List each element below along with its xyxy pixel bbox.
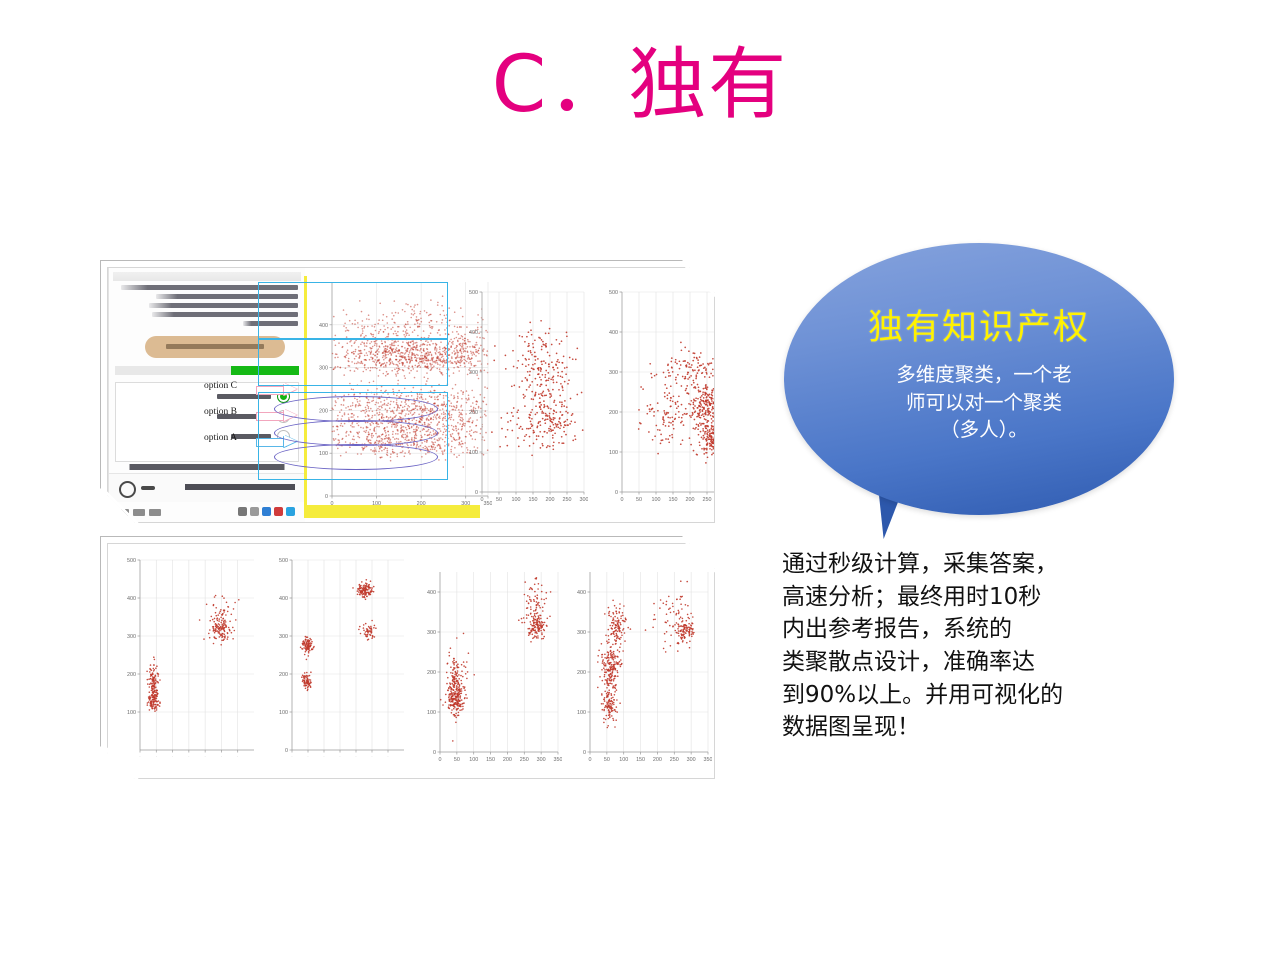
svg-text:200: 200 xyxy=(417,501,426,507)
svg-text:200: 200 xyxy=(503,757,512,763)
bubble-body: 多维度聚类，一个老 师可以对一个聚类 （多人）。 xyxy=(836,361,1132,444)
cluster-ellipse-option-c xyxy=(274,396,438,422)
svg-text:200: 200 xyxy=(427,670,436,676)
svg-text:300: 300 xyxy=(609,370,618,376)
panel-bottom-inner: ·······100200300400500 ·······0100200300… xyxy=(107,543,715,779)
svg-text:400: 400 xyxy=(427,590,436,596)
svg-text:500: 500 xyxy=(127,558,136,564)
panel-top-inner: option C option B option A xyxy=(107,267,715,523)
svg-text:50: 50 xyxy=(496,497,502,503)
slide-root: C．独有 xyxy=(0,0,1280,960)
gear-icon[interactable] xyxy=(119,481,136,498)
svg-text:100: 100 xyxy=(512,497,521,503)
svg-text:500: 500 xyxy=(279,558,288,564)
svg-text:350: 350 xyxy=(554,757,563,763)
svg-text:100: 100 xyxy=(427,710,436,716)
svg-text:100: 100 xyxy=(372,501,381,507)
svg-text:·: · xyxy=(204,754,206,760)
mockup-titlebar xyxy=(113,272,301,281)
paragraph-line: 通过秒级计算，采集答案， xyxy=(782,548,1182,581)
svg-text:·: · xyxy=(139,754,141,760)
svg-text:200: 200 xyxy=(546,497,555,503)
paragraph-line: 到90%以上。并用可视化的 xyxy=(782,679,1182,712)
svg-text:400: 400 xyxy=(279,596,288,602)
svg-text:300: 300 xyxy=(427,630,436,636)
svg-text:100: 100 xyxy=(279,710,288,716)
highlight-box-2 xyxy=(258,338,448,386)
svg-text:200: 200 xyxy=(279,672,288,678)
svg-text:·: · xyxy=(339,754,341,760)
svg-text:400: 400 xyxy=(609,330,618,336)
svg-text:·: · xyxy=(155,754,157,760)
paragraph-line: 内出参考报告，系统的 xyxy=(782,613,1182,646)
svg-text:100: 100 xyxy=(652,497,661,503)
svg-text:0: 0 xyxy=(433,750,436,756)
svg-text:100: 100 xyxy=(609,450,618,456)
svg-text:150: 150 xyxy=(486,757,495,763)
svg-text:200: 200 xyxy=(609,410,618,416)
svg-text:·: · xyxy=(237,754,239,760)
bubble-heading: 独有知识产权 xyxy=(784,299,1174,350)
speech-bubble: 独有知识产权 多维度聚类，一个老 师可以对一个聚类 （多人）。 xyxy=(784,243,1174,515)
svg-text:·: · xyxy=(188,754,190,760)
svg-text:300: 300 xyxy=(469,370,478,376)
svg-text:300: 300 xyxy=(537,757,546,763)
svg-text:150: 150 xyxy=(669,497,678,503)
svg-text:0: 0 xyxy=(325,494,328,500)
scatter-plot-top-right: 0501001502002503000100200300400500 xyxy=(600,286,715,508)
highlight-box-1 xyxy=(258,282,448,340)
screenshot-panel-top: option C option B option A xyxy=(100,260,722,530)
svg-text:50: 50 xyxy=(454,757,460,763)
svg-text:100: 100 xyxy=(469,450,478,456)
svg-text:0: 0 xyxy=(481,497,484,503)
svg-text:400: 400 xyxy=(127,596,136,602)
svg-text:100: 100 xyxy=(127,710,136,716)
svg-text:0: 0 xyxy=(439,757,442,763)
screenshot-panel-bottom: ·······100200300400500 ·······0100200300… xyxy=(100,536,722,786)
bubble-body-line: 多维度聚类，一个老 xyxy=(836,361,1132,389)
scatter-plot-bottom-3: 0501001502002503003500100200300400 xyxy=(416,566,562,766)
svg-text:·: · xyxy=(387,754,389,760)
more-icon[interactable] xyxy=(141,486,155,490)
svg-text:200: 200 xyxy=(686,497,695,503)
svg-text:0: 0 xyxy=(475,490,478,496)
svg-text:500: 500 xyxy=(469,290,478,296)
svg-text:·: · xyxy=(355,754,357,760)
svg-text:0: 0 xyxy=(615,490,618,496)
svg-text:500: 500 xyxy=(609,290,618,296)
svg-text:·: · xyxy=(291,754,293,760)
scatter-plot-bottom-2: ·······0100200300400500 xyxy=(268,554,408,768)
svg-text:150: 150 xyxy=(529,497,538,503)
svg-text:200: 200 xyxy=(469,410,478,416)
scatter-plot-top-middle: 0501001502002503000100200300400500 xyxy=(460,286,588,508)
svg-text:300: 300 xyxy=(580,497,589,503)
callout-label: option B xyxy=(204,407,237,417)
cluster-ellipse-option-b xyxy=(274,420,438,446)
svg-text:·: · xyxy=(323,754,325,760)
svg-text:250: 250 xyxy=(703,497,712,503)
svg-text:·: · xyxy=(371,754,373,760)
bubble-body-line: （多人）。 xyxy=(836,416,1132,444)
svg-text:300: 300 xyxy=(127,634,136,640)
callout-label: option A xyxy=(204,433,237,443)
svg-text:·: · xyxy=(221,754,223,760)
cluster-ellipse-option-a xyxy=(274,444,438,470)
mockup-toolbar-label xyxy=(185,484,295,490)
svg-text:100: 100 xyxy=(469,757,478,763)
svg-text:250: 250 xyxy=(563,497,572,503)
scatter-plot-bottom-1: ·······100200300400500 xyxy=(116,554,258,768)
svg-text:400: 400 xyxy=(469,330,478,336)
paragraph-line: 高速分析；最终用时10秒 xyxy=(782,581,1182,614)
description-paragraph: 通过秒级计算，采集答案， 高速分析；最终用时10秒 内出参考报告，系统的 类聚散… xyxy=(782,548,1182,744)
mockup-status-icons xyxy=(117,509,161,516)
mockup-tray-icons xyxy=(238,507,295,516)
callout-label: option C xyxy=(204,381,237,391)
bubble-body-line: 师可以对一个聚类 xyxy=(836,389,1132,417)
svg-text:250: 250 xyxy=(520,757,529,763)
svg-text:0: 0 xyxy=(331,501,334,507)
scatter-plot-bottom-4: 0501001502002503003500100200300400 xyxy=(566,566,712,766)
svg-text:200: 200 xyxy=(127,672,136,678)
paragraph-line: 数据图呈现！ xyxy=(782,711,1182,744)
page-title: C．独有 xyxy=(0,46,1280,124)
svg-text:300: 300 xyxy=(279,634,288,640)
svg-text:0: 0 xyxy=(621,497,624,503)
svg-text:0: 0 xyxy=(285,748,288,754)
svg-text:·: · xyxy=(307,754,309,760)
svg-text:·: · xyxy=(172,754,174,760)
paragraph-line: 类聚散点设计，准确率达 xyxy=(782,646,1182,679)
svg-text:50: 50 xyxy=(636,497,642,503)
